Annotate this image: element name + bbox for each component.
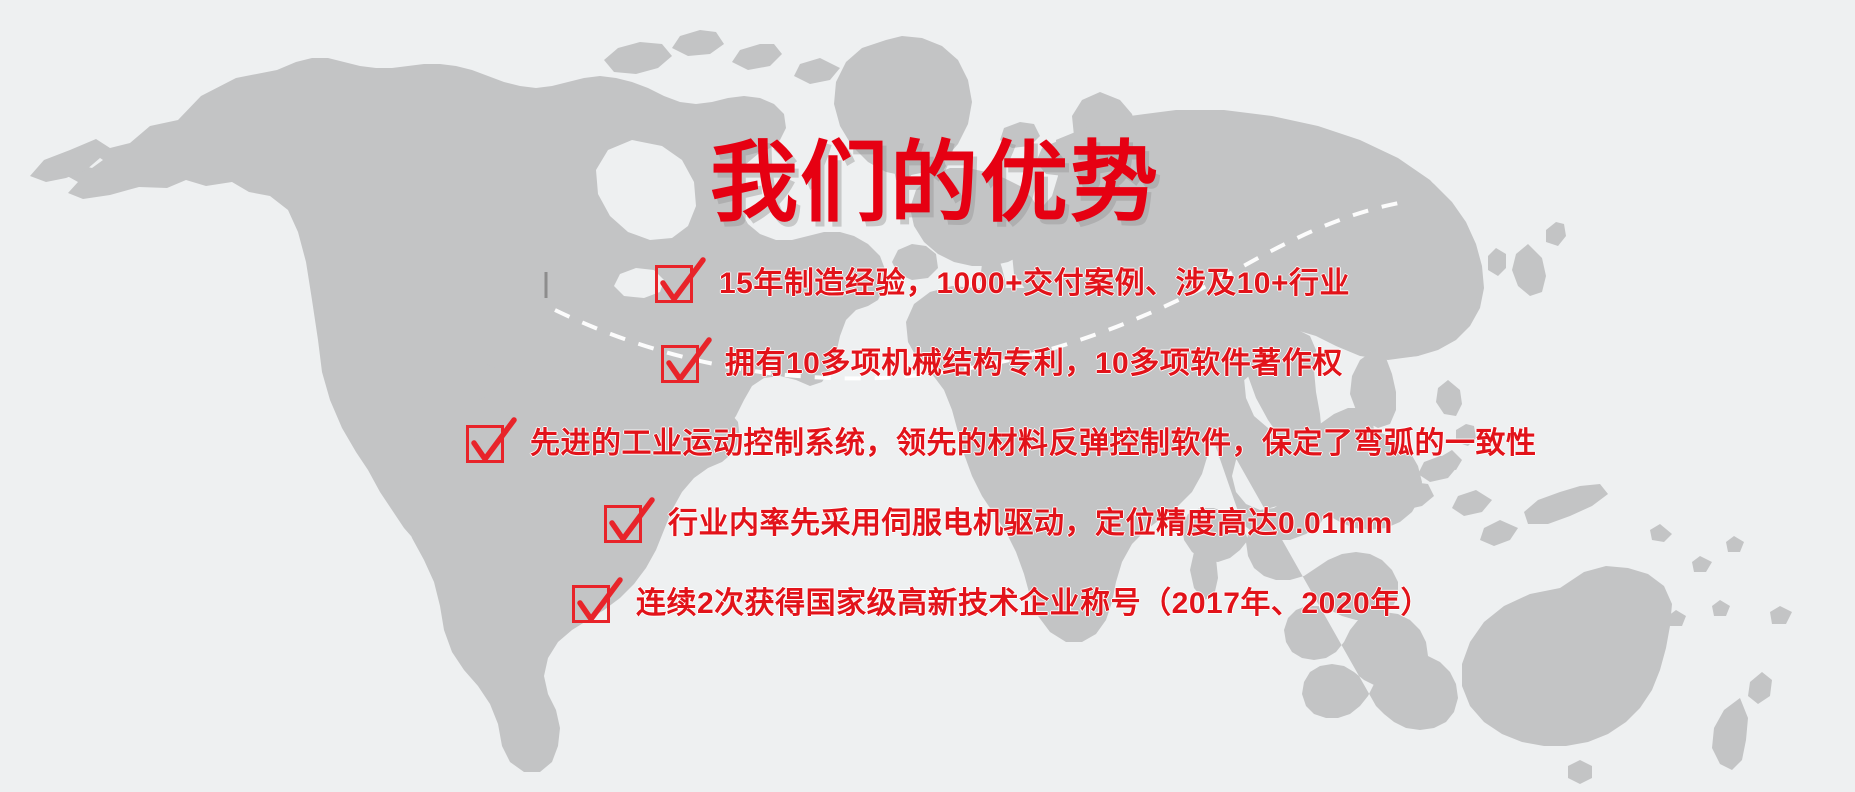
checkbox-checked-icon — [604, 505, 642, 543]
list-item: 连续2次获得国家级高新技术企业称号（2017年、2020年） — [0, 582, 1855, 626]
checkbox-checked-icon — [466, 425, 504, 463]
list-item: 拥有10多项机械结构专利，10多项软件著作权 — [0, 342, 1855, 386]
list-item: 先进的工业运动控制系统，领先的材料反弹控制软件，保定了弯弧的一致性 — [0, 422, 1855, 466]
list-item-label: 拥有10多项机械结构专利，10多项软件著作权 — [725, 342, 1343, 386]
tasmania-land — [1568, 760, 1592, 784]
list-item-label: 先进的工业运动控制系统，领先的材料反弹控制软件，保定了弯弧的一致性 — [530, 422, 1537, 466]
advantages-banner: 我们的优势 15年制造经验，1000+交付案例、涉及10+行业 拥有10多项机械… — [0, 0, 1855, 792]
checkbox-checked-icon — [572, 585, 610, 623]
checkbox-checked-icon — [661, 345, 699, 383]
page-title: 我们的优势 — [710, 135, 1160, 231]
advantages-list: 15年制造经验，1000+交付案例、涉及10+行业 拥有10多项机械结构专利，1… — [0, 262, 1855, 662]
list-item-label: 15年制造经验，1000+交付案例、涉及10+行业 — [719, 262, 1350, 306]
checkbox-checked-icon — [655, 265, 693, 303]
list-item-label: 连续2次获得国家级高新技术企业称号（2017年、2020年） — [636, 582, 1431, 626]
list-item: 15年制造经验，1000+交付案例、涉及10+行业 — [0, 262, 1855, 306]
new-zealand-land — [1712, 672, 1772, 770]
list-item: 行业内率先采用伺服电机驱动，定位精度高达0.01mm — [0, 502, 1855, 546]
list-item-label: 行业内率先采用伺服电机驱动，定位精度高达0.01mm — [668, 502, 1393, 546]
title-container: 我们的优势 — [0, 76, 1855, 290]
